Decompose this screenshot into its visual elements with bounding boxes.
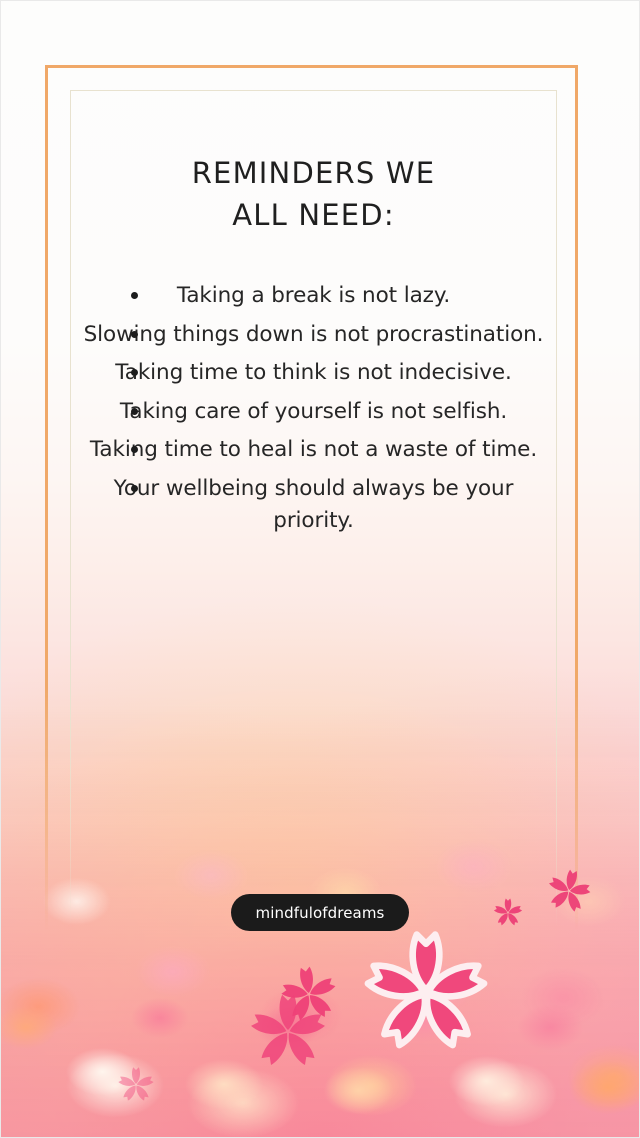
list-item: Taking care of yourself is not selfish. (78, 396, 549, 435)
bullet-icon (131, 485, 138, 492)
list-item-text: Slowing things down is not procrastinati… (84, 322, 544, 347)
poster-content: REMINDERS WE ALL NEED: Taking a break is… (70, 90, 557, 543)
bullet-icon (131, 408, 138, 415)
list-item: Taking time to heal is not a waste of ti… (78, 434, 549, 473)
background-petal-texture-dense (0, 980, 640, 1138)
page-title-line-1: REMINDERS WE (70, 152, 557, 194)
quote-poster: REMINDERS WE ALL NEED: Taking a break is… (0, 0, 640, 1138)
list-item: Taking time to think is not indecisive. (78, 357, 549, 396)
account-handle-badge[interactable]: mindfulofdreams (231, 894, 409, 931)
list-item-text: Taking a break is not lazy. (177, 283, 450, 308)
bullet-icon (131, 292, 138, 299)
list-item: Taking a break is not lazy. (78, 280, 549, 319)
list-item: Slowing things down is not procrastinati… (78, 319, 549, 358)
reminder-list: Taking a break is not lazy. Slowing thin… (70, 236, 557, 543)
list-item-text: Taking time to heal is not a waste of ti… (90, 437, 537, 462)
list-item-text: Your wellbeing should always be your pri… (114, 476, 514, 533)
page-title-line-2: ALL NEED: (70, 194, 557, 236)
page-title: REMINDERS WE ALL NEED: (70, 90, 557, 236)
list-item-text: Taking time to think is not indecisive. (115, 360, 511, 385)
list-item-text: Taking care of yourself is not selfish. (120, 399, 507, 424)
account-handle-text: mindfulofdreams (256, 904, 385, 922)
list-item: Your wellbeing should always be your pri… (78, 473, 549, 543)
bullet-icon (131, 331, 138, 338)
